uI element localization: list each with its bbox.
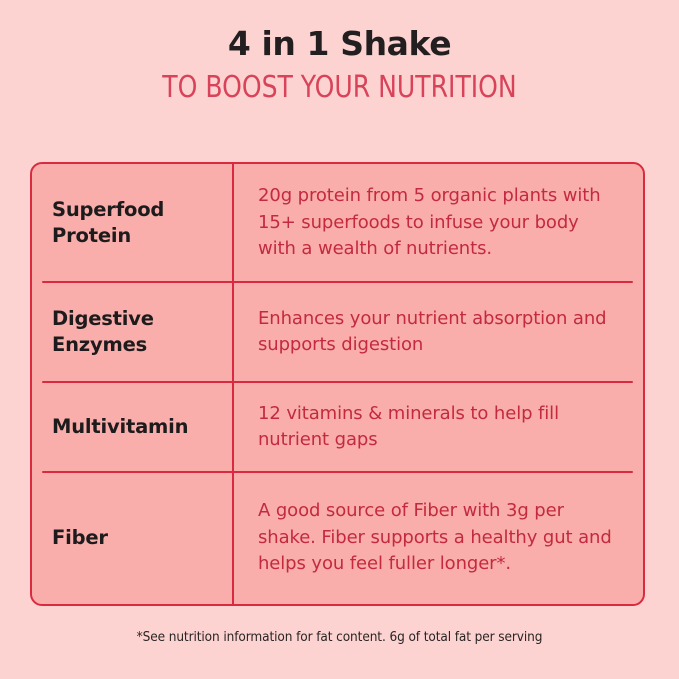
benefit-label: Superfood Protein <box>32 197 232 248</box>
table-row: Superfood Protein 20g protein from 5 org… <box>32 164 643 282</box>
page-title: 4 in 1 Shake <box>0 26 679 63</box>
benefit-description: 12 vitamins & minerals to help fill nutr… <box>232 401 643 454</box>
benefit-label: Digestive Enzymes <box>32 306 232 357</box>
table-row: Multivitamin 12 vitamins & minerals to h… <box>32 382 643 472</box>
table-row: Digestive Enzymes Enhances your nutrient… <box>32 282 643 382</box>
benefits-table: Superfood Protein 20g protein from 5 org… <box>30 162 645 606</box>
table-row: Fiber A good source of Fiber with 3g per… <box>32 472 643 604</box>
benefit-label: Fiber <box>32 525 232 551</box>
header: 4 in 1 Shake TO BOOST YOUR NUTRITION <box>0 26 679 106</box>
benefit-description: A good source of Fiber with 3g per shake… <box>232 498 643 577</box>
page-subtitle: TO BOOST YOUR NUTRITION <box>24 70 655 106</box>
nutrition-infographic: 4 in 1 Shake TO BOOST YOUR NUTRITION Sup… <box>0 0 679 679</box>
footnote: *See nutrition information for fat conte… <box>0 629 679 645</box>
benefit-description: Enhances your nutrient absorption and su… <box>232 306 643 359</box>
benefit-label: Multivitamin <box>32 414 232 440</box>
benefit-description: 20g protein from 5 organic plants with 1… <box>232 183 643 262</box>
